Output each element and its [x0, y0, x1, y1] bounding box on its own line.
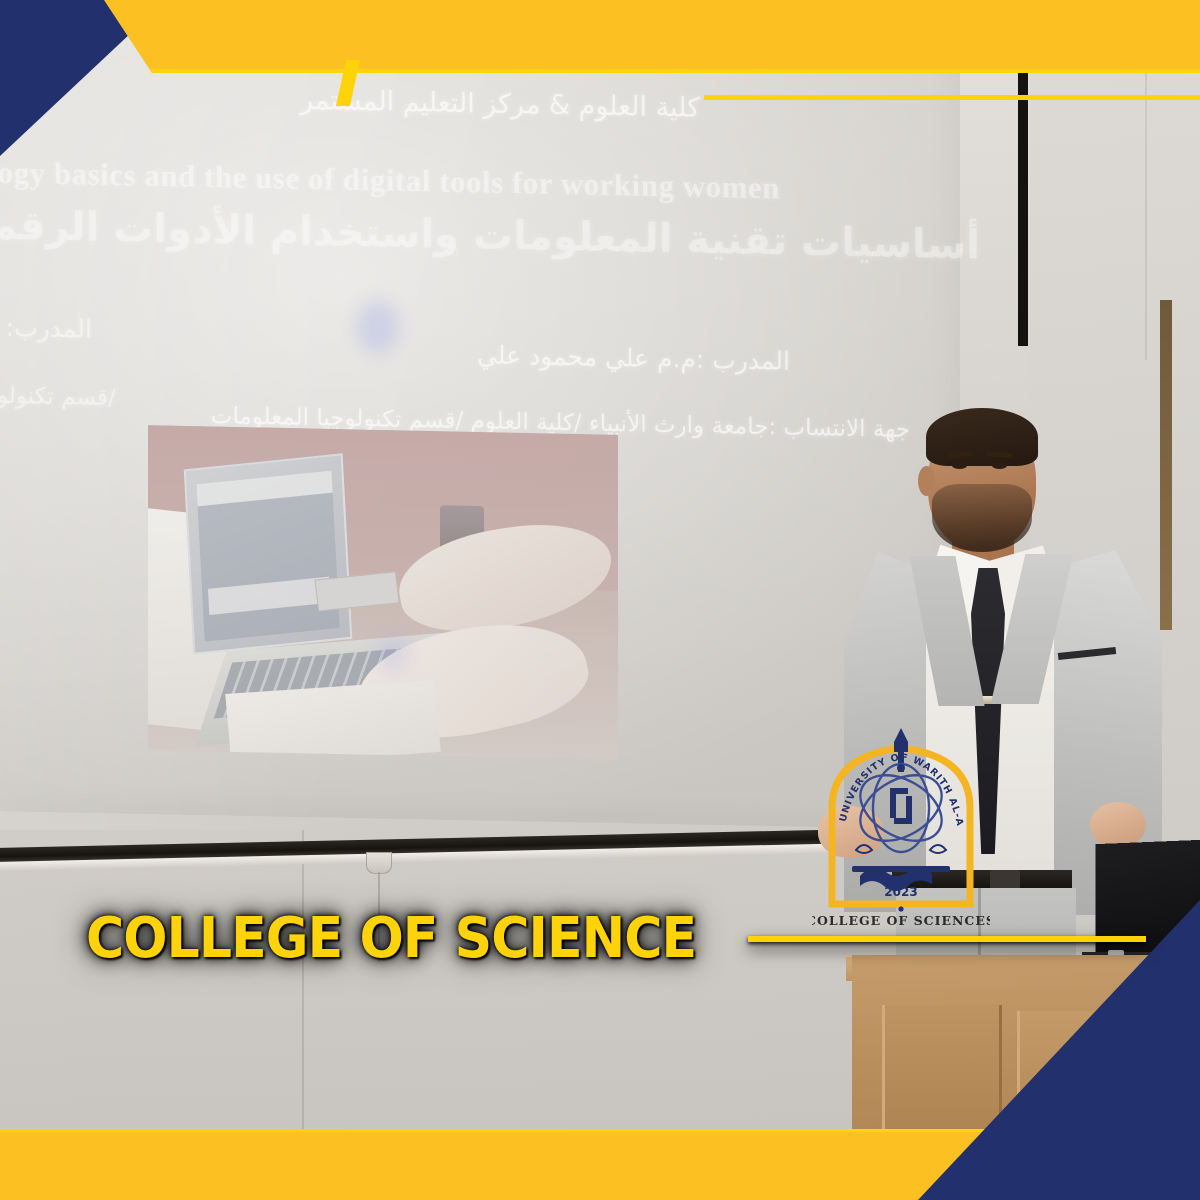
wall-seam — [302, 830, 304, 1130]
belt-buckle — [990, 870, 1020, 890]
slide-english-title: ...nology basics and the use of digital … — [0, 153, 780, 206]
hand-right — [1090, 802, 1146, 848]
hair — [926, 408, 1038, 466]
top-yellow-band — [0, 0, 1200, 73]
top-right-yellow-rule — [704, 95, 1200, 100]
logo-year: 2023 — [884, 885, 917, 899]
door-frame — [1018, 46, 1028, 346]
university-logo: UNIVERSITY OF WARITH AL-ANBIYA — [812, 726, 990, 931]
slide-ghost-trainer: المدرب: م.م نبيل — [0, 311, 92, 344]
top-yellow-band-edge — [0, 69, 1200, 73]
title-underline-rule — [748, 936, 1146, 942]
slide-photo-laptop — [148, 425, 618, 760]
event-photograph: كلية العلوم & مركز التعليم المستمر ...no… — [0, 0, 1200, 1200]
beard — [932, 484, 1032, 552]
eye-right — [992, 462, 1007, 469]
ear — [918, 466, 935, 496]
screen-pull-clip — [366, 852, 392, 874]
logo-footer-text: COLLEGE OF SCIENCES — [812, 913, 990, 928]
wall-seam-right — [1145, 60, 1147, 360]
slide-photo-laptop-lid — [184, 453, 353, 655]
slide-header: كلية العلوم & مركز التعليم المستمر — [300, 85, 700, 124]
eye-left — [952, 462, 967, 469]
slide-trainer: المدرب :م.م علي محمود علي — [477, 340, 790, 375]
slide-arabic-title: أساسيات تقنية المعلومات واستخدام الأدوات… — [0, 202, 980, 269]
page-title: COLLEGE OF SCIENCE — [86, 906, 696, 971]
slide-photo-paper-front — [225, 680, 440, 760]
promo-photo-card: كلية العلوم & مركز التعليم المستمر ...no… — [0, 0, 1200, 1200]
slide-ghost-affiliation: /قسم تكنولوجيا المعلوم — [0, 381, 116, 412]
